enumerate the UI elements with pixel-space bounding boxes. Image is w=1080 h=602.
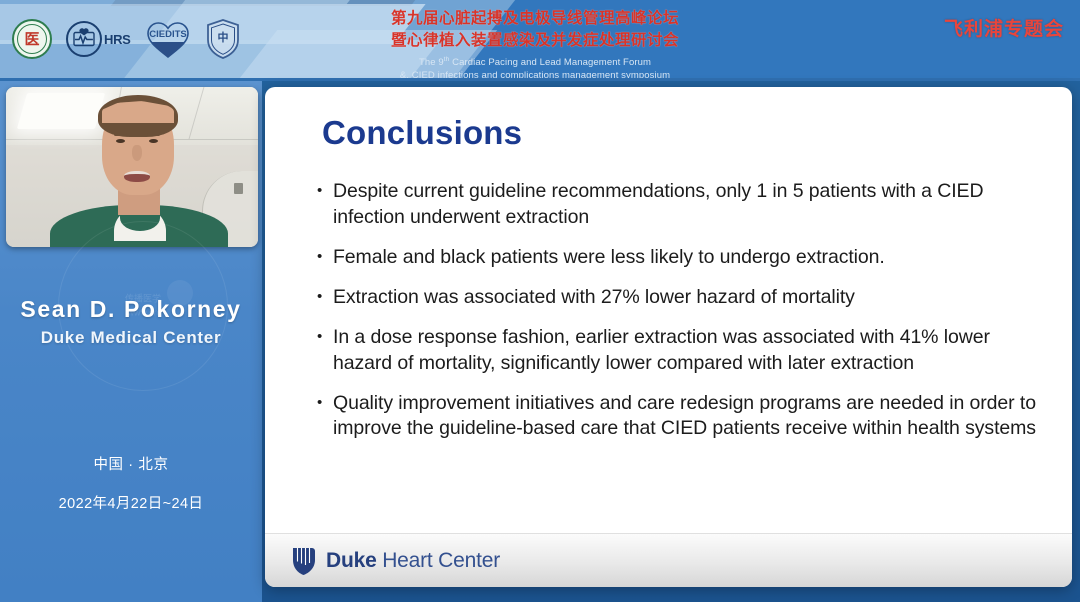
event-location: 中国 · 北京 bbox=[0, 453, 262, 474]
slide-bullet-item: • Female and black patients were less li… bbox=[317, 245, 1037, 271]
conference-title-cn-line2: 暨心律植入装置感染及并发症处理研讨会 bbox=[385, 30, 685, 52]
presentation-viewer: 医 HRS CIEDITS bbox=[0, 0, 1080, 602]
bullet-text: Despite current guideline recommendation… bbox=[333, 179, 1037, 231]
bullet-text: Extraction was associated with 27% lower… bbox=[333, 285, 1037, 311]
society-logo-glyph: 医 bbox=[17, 24, 47, 54]
speaker-panel: 传播医学 www.cn Sean D. Pokorney Duke Medica… bbox=[0, 81, 262, 602]
bullet-marker-icon: • bbox=[317, 245, 333, 271]
subtitle-prefix: The 9 bbox=[419, 57, 444, 68]
conference-title-block: 第九届心脏起搏及电极导线管理高峰论坛 暨心律植入装置感染及并发症处理研讨会 Th… bbox=[385, 8, 685, 81]
hrs-logo-label: HRS bbox=[104, 32, 131, 47]
speaker-eye-right bbox=[149, 139, 158, 143]
bullet-marker-icon: • bbox=[317, 391, 333, 443]
slide-bullet-item: • Quality improvement initiatives and ca… bbox=[317, 391, 1037, 443]
speaker-mouth bbox=[124, 171, 150, 182]
shield-badge-logo: 中 bbox=[205, 18, 241, 60]
video-wall-switch bbox=[234, 183, 243, 194]
duke-heart-center-logo: Duke Heart Center bbox=[291, 546, 500, 576]
bullet-marker-icon: • bbox=[317, 285, 333, 311]
speaker-video-thumbnail[interactable] bbox=[6, 87, 258, 247]
slide-title: Conclusions bbox=[322, 114, 522, 152]
ceiling-light-fixture bbox=[17, 93, 105, 129]
svg-text:CIEDITS: CIEDITS bbox=[149, 29, 186, 40]
subtitle-suffix: Cardiac Pacing and Lead Management Forum bbox=[449, 57, 651, 68]
bullet-marker-icon: • bbox=[317, 325, 333, 377]
slide-bullet-item: • Despite current guideline recommendati… bbox=[317, 179, 1037, 231]
speaker-eyebrow-right bbox=[147, 133, 160, 136]
bullet-text: Female and black patients were less like… bbox=[333, 245, 1037, 271]
chinese-medical-society-logo: 医 bbox=[12, 19, 52, 59]
speaker-eye-left bbox=[116, 139, 125, 143]
slide-footer: Duke Heart Center bbox=[265, 533, 1072, 587]
hrs-heart-icon bbox=[66, 21, 102, 57]
hrs-logo: HRS bbox=[66, 21, 131, 57]
bullet-text: In a dose response fashion, earlier extr… bbox=[333, 325, 1037, 377]
duke-shield-icon bbox=[291, 546, 317, 576]
organizer-logos: 医 HRS CIEDITS bbox=[12, 18, 241, 60]
svg-text:中: 中 bbox=[217, 30, 228, 44]
event-date: 2022年4月22日~24日 bbox=[0, 492, 262, 513]
speaker-organization: Duke Medical Center bbox=[0, 328, 262, 348]
speaker-nose bbox=[132, 145, 142, 161]
duke-brand-bold: Duke bbox=[326, 549, 377, 572]
slide-bullet-item: • In a dose response fashion, earlier ex… bbox=[317, 325, 1037, 377]
conference-header: 医 HRS CIEDITS bbox=[0, 0, 1080, 81]
conference-title-cn-line1: 第九届心脏起搏及电极导线管理高峰论坛 bbox=[385, 8, 685, 30]
speaker-eyebrow-left bbox=[114, 133, 127, 136]
sponsor-session-label: 飞利浦专题会 bbox=[944, 14, 1064, 41]
ciedits-logo: CIEDITS bbox=[145, 18, 191, 60]
duke-brand-text: Duke Heart Center bbox=[326, 549, 500, 573]
slide-bullet-item: • Extraction was associated with 27% low… bbox=[317, 285, 1037, 311]
slide-canvas[interactable]: Conclusions • Despite current guideline … bbox=[265, 87, 1072, 587]
conference-subtitle-en-line1: The 9th Cardiac Pacing and Lead Manageme… bbox=[385, 56, 685, 70]
bullet-marker-icon: • bbox=[317, 179, 333, 231]
bullet-text: Quality improvement initiatives and care… bbox=[333, 391, 1037, 443]
duke-brand-light: Heart Center bbox=[377, 549, 500, 572]
slide-bullet-list: • Despite current guideline recommendati… bbox=[317, 179, 1037, 456]
speaker-name: Sean D. Pokorney bbox=[0, 296, 262, 323]
